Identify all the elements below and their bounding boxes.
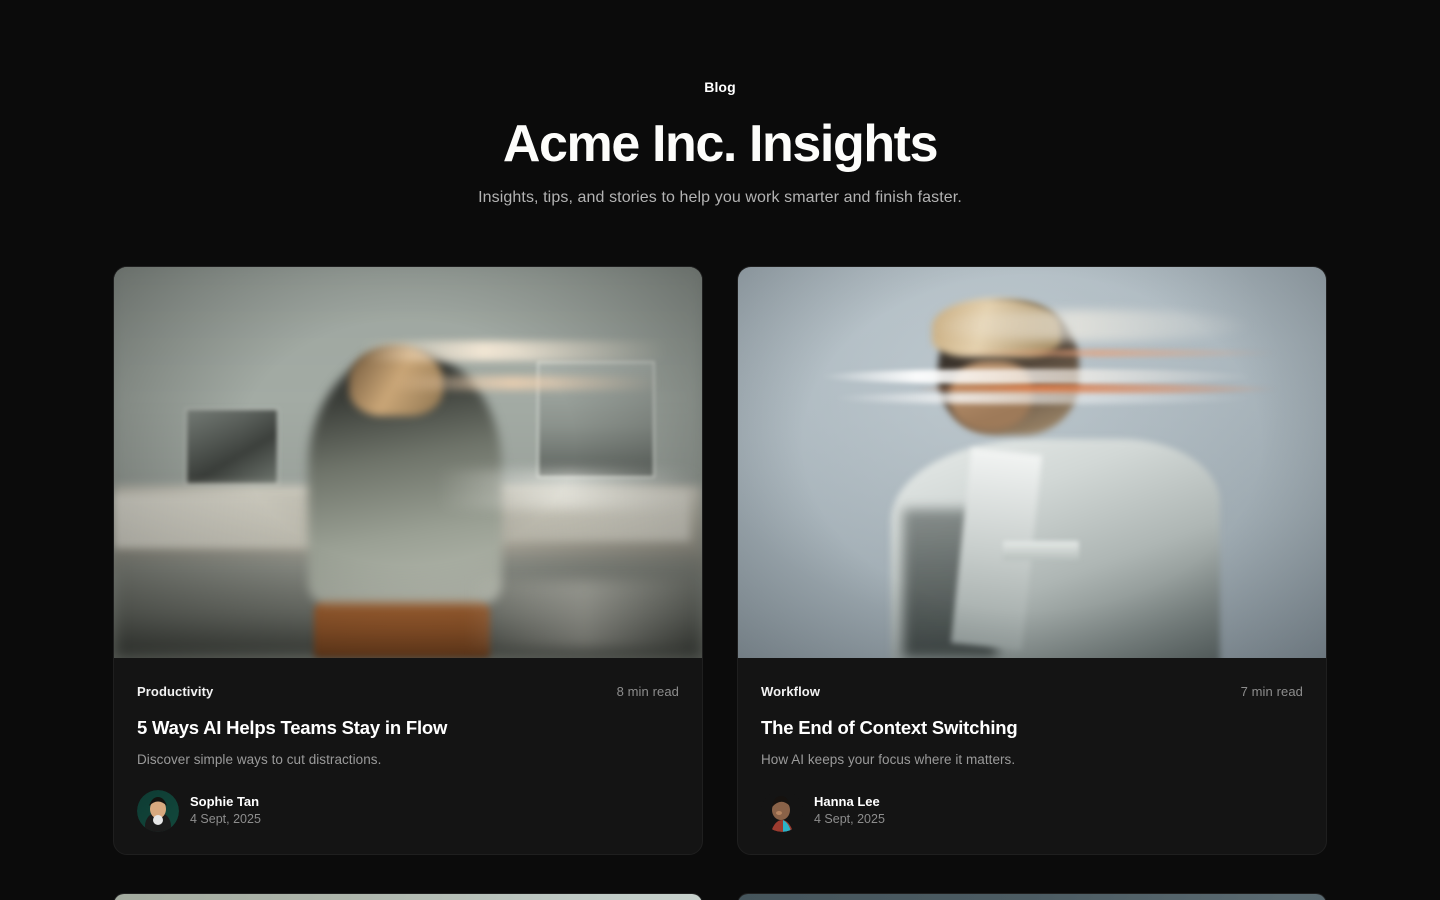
- post-excerpt: How AI keeps your focus where it matters…: [761, 751, 1303, 769]
- post-byline: Sophie Tan 4 Sept, 2025: [137, 790, 679, 832]
- page-header: Blog Acme Inc. Insights Insights, tips, …: [0, 0, 1440, 209]
- post-meta-row: Workflow 7 min read: [761, 684, 1303, 699]
- blog-page: Blog Acme Inc. Insights Insights, tips, …: [0, 0, 1440, 900]
- portrait-artwork: [738, 267, 1326, 658]
- vignette-overlay: [114, 267, 702, 658]
- post-category[interactable]: Workflow: [761, 684, 820, 699]
- post-card[interactable]: Workflow 7 min read The End of Context S…: [737, 266, 1327, 855]
- post-thumbnail-sage[interactable]: [114, 894, 702, 900]
- byline-text: Sophie Tan 4 Sept, 2025: [190, 795, 261, 826]
- post-card[interactable]: [737, 893, 1327, 900]
- post-byline: Hanna Lee 4 Sept, 2025: [761, 790, 1303, 832]
- post-body: Workflow 7 min read The End of Context S…: [738, 658, 1326, 854]
- page-subtitle: Insights, tips, and stories to help you …: [0, 188, 1440, 209]
- vignette-overlay: [738, 267, 1326, 658]
- post-author[interactable]: Hanna Lee: [814, 795, 885, 810]
- post-thumbnail-desk[interactable]: [114, 267, 702, 658]
- avatar: [761, 790, 803, 832]
- post-thumbnail-portrait[interactable]: [738, 267, 1326, 658]
- post-title[interactable]: The End of Context Switching: [761, 717, 1303, 739]
- post-author[interactable]: Sophie Tan: [190, 795, 261, 810]
- page-title: Acme Inc. Insights: [0, 116, 1440, 172]
- post-body: Productivity 8 min read 5 Ways AI Helps …: [114, 658, 702, 854]
- post-date: 4 Sept, 2025: [814, 812, 885, 826]
- slate-artwork: [738, 894, 1326, 900]
- post-meta-row: Productivity 8 min read: [137, 684, 679, 699]
- post-title[interactable]: 5 Ways AI Helps Teams Stay in Flow: [137, 717, 679, 739]
- post-date: 4 Sept, 2025: [190, 812, 261, 826]
- post-read-time: 8 min read: [617, 684, 679, 699]
- post-read-time: 7 min read: [1241, 684, 1303, 699]
- post-category[interactable]: Productivity: [137, 684, 213, 699]
- post-card[interactable]: Productivity 8 min read 5 Ways AI Helps …: [113, 266, 703, 855]
- sage-artwork: [114, 894, 702, 900]
- avatar: [137, 790, 179, 832]
- post-excerpt: Discover simple ways to cut distractions…: [137, 751, 679, 769]
- post-grid: Productivity 8 min read 5 Ways AI Helps …: [113, 266, 1327, 900]
- post-card[interactable]: [113, 893, 703, 900]
- post-thumbnail-slate[interactable]: [738, 894, 1326, 900]
- byline-text: Hanna Lee 4 Sept, 2025: [814, 795, 885, 826]
- page-eyebrow: Blog: [0, 80, 1440, 94]
- desk-artwork: [114, 267, 702, 658]
